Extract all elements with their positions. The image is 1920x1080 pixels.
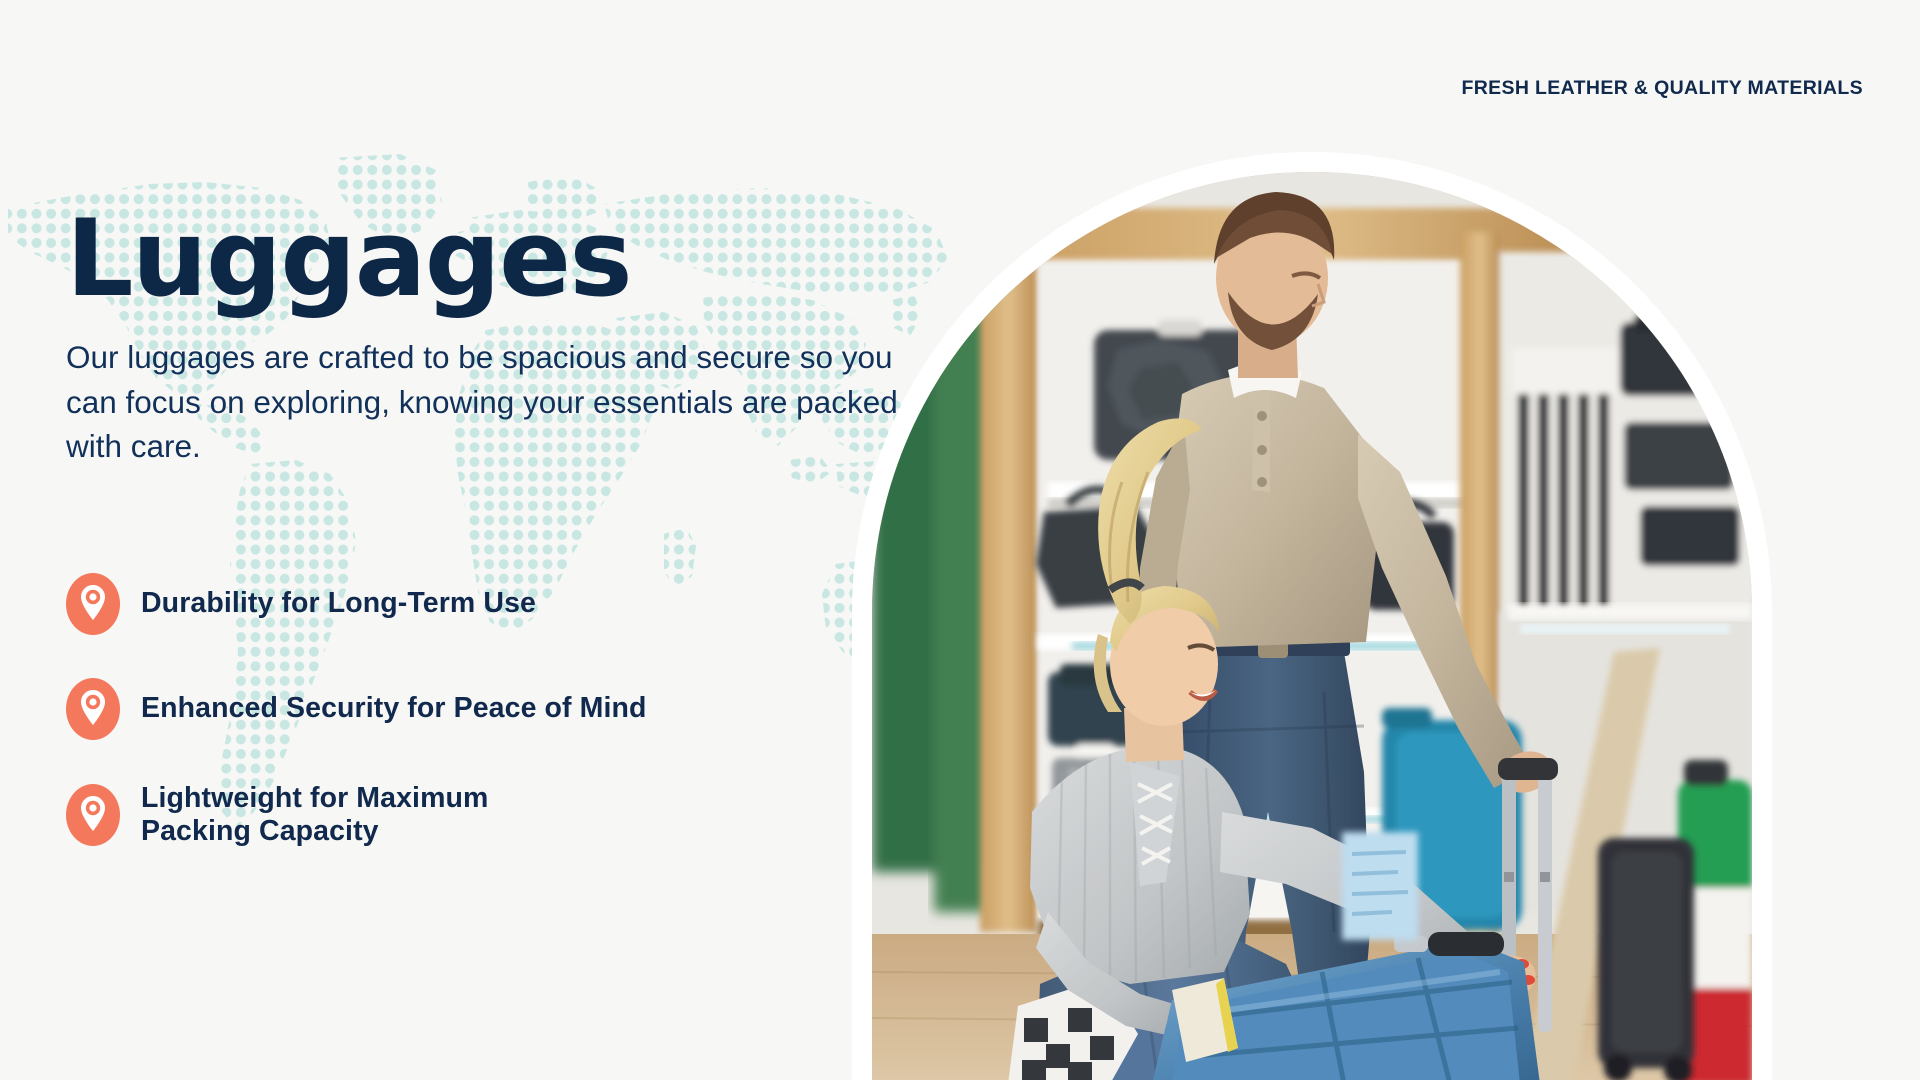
text-column: Luggages Our luggages are crafted to be … — [66, 205, 946, 468]
kicker-text: FRESH LEATHER & QUALITY MATERIALS — [1461, 77, 1863, 100]
map-pin-icon — [66, 573, 120, 635]
intro-paragraph: Our luggages are crafted to be spacious … — [66, 335, 931, 468]
feature-label: Enhanced Security for Peace of Mind — [141, 692, 647, 725]
photo-clip — [872, 172, 1752, 1080]
luggage-store-couple-photo — [872, 172, 1752, 1080]
slide-canvas: FRESH LEATHER & QUALITY MATERIALS Luggag… — [0, 0, 1920, 1080]
map-pin-icon — [66, 678, 120, 740]
feature-list: Durability for Long-Term Use Enhanced Se… — [66, 572, 896, 849]
feature-item-security[interactable]: Enhanced Security for Peace of Mind — [66, 677, 896, 741]
feature-label: Lightweight for Maximum Packing Capacity — [141, 782, 488, 849]
map-pin-icon — [66, 784, 120, 846]
feature-label: Durability for Long-Term Use — [141, 587, 536, 620]
photo-arch-frame — [852, 152, 1772, 1080]
feature-item-lightweight[interactable]: Lightweight for Maximum Packing Capacity — [66, 782, 896, 849]
page-title: Luggages — [66, 205, 946, 313]
feature-item-durability[interactable]: Durability for Long-Term Use — [66, 572, 896, 636]
